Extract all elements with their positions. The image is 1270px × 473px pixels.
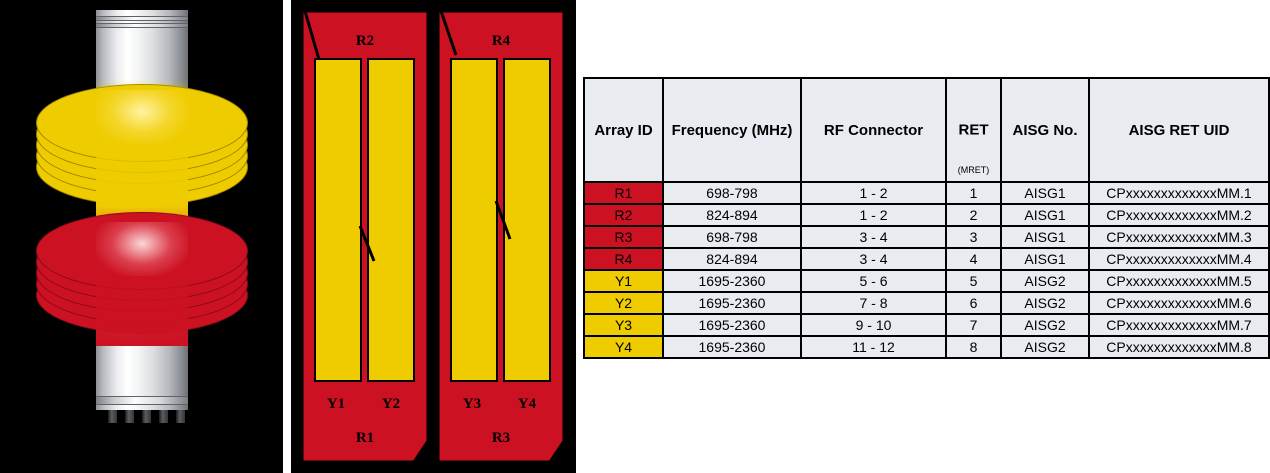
cell-frequency: 1695-2360 (663, 270, 801, 292)
array-strip-y4 (504, 59, 550, 381)
cell-array-id: Y4 (584, 336, 663, 358)
cell-ret: 8 (946, 336, 1001, 358)
cell-array-id: R2 (584, 204, 663, 226)
cell-array-id: R1 (584, 182, 663, 204)
cell-aisg-no: AISG1 (1001, 226, 1089, 248)
cell-rf-connector: 5 - 6 (801, 270, 946, 292)
cell-ret: 2 (946, 204, 1001, 226)
cell-aisg-ret-uid: CPxxxxxxxxxxxxxMM.5 (1089, 270, 1269, 292)
cell-aisg-ret-uid: CPxxxxxxxxxxxxxMM.8 (1089, 336, 1269, 358)
cell-rf-connector: 9 - 10 (801, 314, 946, 336)
antenna-radome-body (96, 10, 188, 410)
column-header-rf-connector: RF Connector (801, 78, 946, 182)
cell-aisg-ret-uid: CPxxxxxxxxxxxxxMM.7 (1089, 314, 1269, 336)
array-strip-y2 (368, 59, 414, 381)
cell-array-id: Y1 (584, 270, 663, 292)
figure-root: R2 R1 Y1 Y2 R4 R3 Y3 Y4 (0, 0, 1270, 473)
cell-array-id: R3 (584, 226, 663, 248)
cell-array-id: Y2 (584, 292, 663, 314)
cell-ret: 6 (946, 292, 1001, 314)
cell-ret: 7 (946, 314, 1001, 336)
column-header-aisg-ret-uid: AISG RET UID (1089, 78, 1269, 182)
array-strip-y3 (451, 59, 497, 381)
column-header-ret: RET (MRET) (946, 78, 1001, 182)
table-row: Y41695-236011 - 128AISG2CPxxxxxxxxxxxxxM… (584, 336, 1269, 358)
cell-ret: 3 (946, 226, 1001, 248)
cell-ret: 5 (946, 270, 1001, 292)
radome-top-seam-1 (96, 16, 188, 21)
antenna-illustration-panel (0, 0, 283, 473)
array-strip-y1 (315, 59, 361, 381)
cell-aisg-no: AISG2 (1001, 270, 1089, 292)
cell-frequency: 698-798 (663, 226, 801, 248)
cell-aisg-ret-uid: CPxxxxxxxxxxxxxMM.1 (1089, 182, 1269, 204)
table-row: Y31695-23609 - 107AISG2CPxxxxxxxxxxxxxMM… (584, 314, 1269, 336)
table-row: R3698-7983 - 43AISG1CPxxxxxxxxxxxxxMM.3 (584, 226, 1269, 248)
cell-rf-connector: 11 - 12 (801, 336, 946, 358)
table-body: R1698-7981 - 21AISG1CPxxxxxxxxxxxxxMM.1R… (584, 182, 1269, 358)
cell-array-id: R4 (584, 248, 663, 270)
configuration-table-container: Array ID Frequency (MHz) RF Connector RE… (583, 77, 1270, 359)
cell-aisg-no: AISG1 (1001, 204, 1089, 226)
table-row: Y11695-23605 - 65AISG2CPxxxxxxxxxxxxxMM.… (584, 270, 1269, 292)
cell-aisg-no: AISG2 (1001, 314, 1089, 336)
column-header-array-id: Array ID (584, 78, 663, 182)
table-row: Y21695-23607 - 86AISG2CPxxxxxxxxxxxxxMM.… (584, 292, 1269, 314)
column-header-aisg-no: AISG No. (1001, 78, 1089, 182)
cell-ret: 1 (946, 182, 1001, 204)
cell-frequency: 824-894 (663, 204, 801, 226)
cell-array-id: Y3 (584, 314, 663, 336)
board-right-shape (438, 11, 564, 462)
table-row: R1698-7981 - 21AISG1CPxxxxxxxxxxxxxMM.1 (584, 182, 1269, 204)
cell-rf-connector: 7 - 8 (801, 292, 946, 314)
array-board-left: R2 R1 Y1 Y2 (302, 11, 428, 462)
cell-rf-connector: 3 - 4 (801, 226, 946, 248)
cell-aisg-ret-uid: CPxxxxxxxxxxxxxMM.3 (1089, 226, 1269, 248)
column-header-frequency: Frequency (MHz) (663, 78, 801, 182)
cell-ret: 4 (946, 248, 1001, 270)
cell-aisg-ret-uid: CPxxxxxxxxxxxxxMM.6 (1089, 292, 1269, 314)
cell-aisg-no: AISG1 (1001, 182, 1089, 204)
cell-frequency: 1695-2360 (663, 292, 801, 314)
array-board-right: R4 R3 Y3 Y4 (438, 11, 564, 462)
cell-aisg-no: AISG1 (1001, 248, 1089, 270)
table-header-row: Array ID Frequency (MHz) RF Connector RE… (584, 78, 1269, 182)
cell-frequency: 824-894 (663, 248, 801, 270)
table-row: R2824-8941 - 22AISG1CPxxxxxxxxxxxxxMM.2 (584, 204, 1269, 226)
cell-frequency: 698-798 (663, 182, 801, 204)
cell-aisg-ret-uid: CPxxxxxxxxxxxxxMM.2 (1089, 204, 1269, 226)
array-configuration-table: Array ID Frequency (MHz) RF Connector RE… (583, 77, 1270, 359)
table-row: R4824-8943 - 44AISG1CPxxxxxxxxxxxxxMM.4 (584, 248, 1269, 270)
cell-frequency: 1695-2360 (663, 336, 801, 358)
board-left-shape (302, 11, 428, 462)
table-header: Array ID Frequency (MHz) RF Connector RE… (584, 78, 1269, 182)
cell-frequency: 1695-2360 (663, 314, 801, 336)
cell-aisg-ret-uid: CPxxxxxxxxxxxxxMM.4 (1089, 248, 1269, 270)
cell-aisg-no: AISG2 (1001, 292, 1089, 314)
ret-header-main: RET (947, 122, 1000, 139)
cell-aisg-no: AISG2 (1001, 336, 1089, 358)
cell-rf-connector: 1 - 2 (801, 182, 946, 204)
cell-rf-connector: 1 - 2 (801, 204, 946, 226)
cell-rf-connector: 3 - 4 (801, 248, 946, 270)
ret-header-inner: RET (MRET) (947, 79, 1000, 181)
ret-header-subtitle: (MRET) (947, 165, 1000, 175)
radome-top-seam-2 (96, 23, 188, 28)
array-layout-panel: R2 R1 Y1 Y2 R4 R3 Y3 Y4 (291, 0, 576, 473)
radome-bottom-flange (96, 396, 188, 405)
